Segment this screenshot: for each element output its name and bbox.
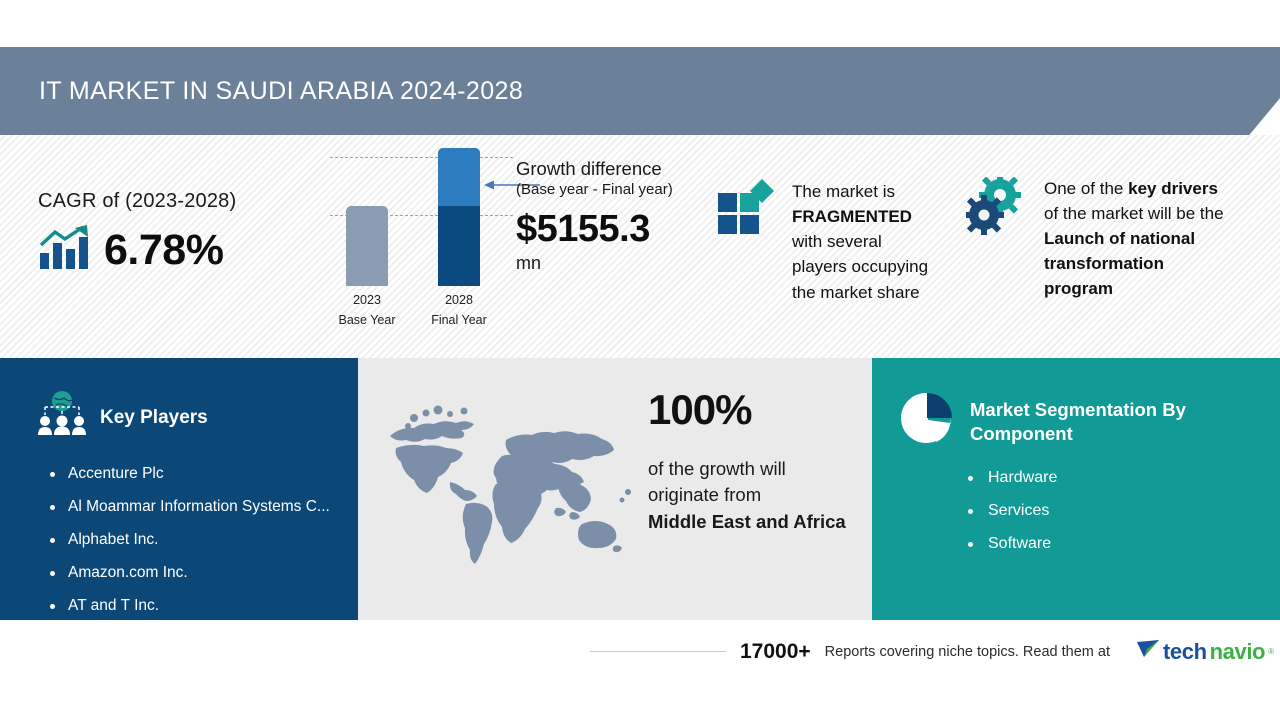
- list-item: Alphabet Inc.: [34, 531, 358, 549]
- market-segmentation-panel: Market Segmentation By Component Hardwar…: [872, 358, 1280, 620]
- key-drivers-program: Launch of national transformation progra…: [1044, 229, 1195, 298]
- fragmented-text: The market is FRAGMENTED with several pl…: [792, 179, 962, 305]
- growth-unit: mn: [516, 253, 716, 274]
- segmentation-list: Hardware Services Software: [964, 469, 1280, 553]
- key-drivers-text: One of the key drivers of the market wil…: [1044, 177, 1234, 302]
- growth-origin-description: of the growth will originate from Middle…: [648, 456, 898, 535]
- bar-label-2023: 2023 Base Year: [327, 291, 407, 330]
- pie-chart-icon: [900, 392, 954, 451]
- gridline-top: [330, 157, 513, 158]
- logo-trademark: ®: [1268, 647, 1274, 656]
- key-players-list: Accenture Plc Al Moammar Information Sys…: [34, 465, 358, 615]
- fragmented-keyword: FRAGMENTED: [792, 207, 912, 226]
- footer-text: Reports covering niche topics. Read them…: [825, 644, 1110, 660]
- list-item: Software: [964, 535, 1280, 553]
- growth-origin-panel: 100% of the growth will originate from M…: [358, 358, 872, 620]
- bar-chart-growth-icon: [38, 225, 90, 276]
- cagr-block: CAGR of (2023-2028) 6.78%: [38, 190, 328, 276]
- segmentation-title: Market Segmentation By Component: [970, 392, 1220, 446]
- growth-origin-region: Middle East and Africa: [648, 511, 846, 532]
- bar-growth-segment: [438, 148, 480, 206]
- gears-icon: [966, 177, 1028, 302]
- key-players-panel: Key Players Accenture Plc Al Moammar Inf…: [0, 358, 358, 620]
- technavio-logo[interactable]: tech navio ®: [1136, 638, 1274, 665]
- footer: 17000+ Reports covering niche topics. Re…: [0, 620, 1280, 720]
- fragmented-squares-icon: [716, 179, 774, 305]
- list-item: Al Moammar Information Systems C...: [34, 498, 358, 516]
- fragmented-block: The market is FRAGMENTED with several pl…: [716, 179, 962, 305]
- technavio-logo-icon: [1136, 638, 1160, 665]
- cagr-value: 6.78%: [104, 226, 223, 275]
- growth-subtitle: (Base year - Final year): [516, 181, 716, 198]
- cagr-label: CAGR of (2023-2028): [38, 190, 328, 213]
- logo-tech-text: tech: [1163, 639, 1207, 665]
- list-item: Hardware: [964, 469, 1280, 487]
- bar-label-2028: 2028 Final Year: [419, 291, 499, 330]
- growth-difference-block: Growth difference (Base year - Final yea…: [516, 158, 716, 274]
- reports-count: 17000+: [740, 640, 811, 664]
- key-drivers-block: One of the key drivers of the market wil…: [966, 177, 1234, 302]
- growth-title: Growth difference: [516, 158, 716, 180]
- growth-origin-text: 100% of the growth will originate from M…: [648, 386, 898, 535]
- header-bar: IT MARKET IN SAUDI ARABIA 2024-2028: [0, 47, 1280, 135]
- footer-divider: [590, 651, 726, 652]
- key-players-header: Key Players: [0, 358, 358, 445]
- bar-base-year: [346, 206, 388, 286]
- key-players-title: Key Players: [100, 407, 208, 429]
- globe-people-network-icon: [36, 390, 88, 445]
- list-item: Accenture Plc: [34, 465, 358, 483]
- stats-band: CAGR of (2023-2028) 6.78%: [0, 135, 1280, 358]
- world-map-icon: [378, 396, 648, 576]
- list-item: Services: [964, 502, 1280, 520]
- list-item: Amazon.com Inc.: [34, 564, 358, 582]
- bar-final-year: [438, 148, 480, 286]
- growth-bar-chart: 2023 Base Year 2028 Final Year: [330, 153, 520, 338]
- key-drivers-keyword: key drivers: [1128, 179, 1218, 198]
- logo-navio-text: navio: [1210, 639, 1265, 665]
- infographic-root: IT MARKET IN SAUDI ARABIA 2024-2028 CAGR…: [0, 0, 1280, 720]
- segmentation-header: Market Segmentation By Component: [872, 358, 1280, 451]
- growth-value: $5155.3: [516, 208, 716, 251]
- list-item: AT and T Inc.: [34, 597, 358, 615]
- growth-percent: 100%: [648, 386, 898, 434]
- page-title: IT MARKET IN SAUDI ARABIA 2024-2028: [0, 77, 523, 106]
